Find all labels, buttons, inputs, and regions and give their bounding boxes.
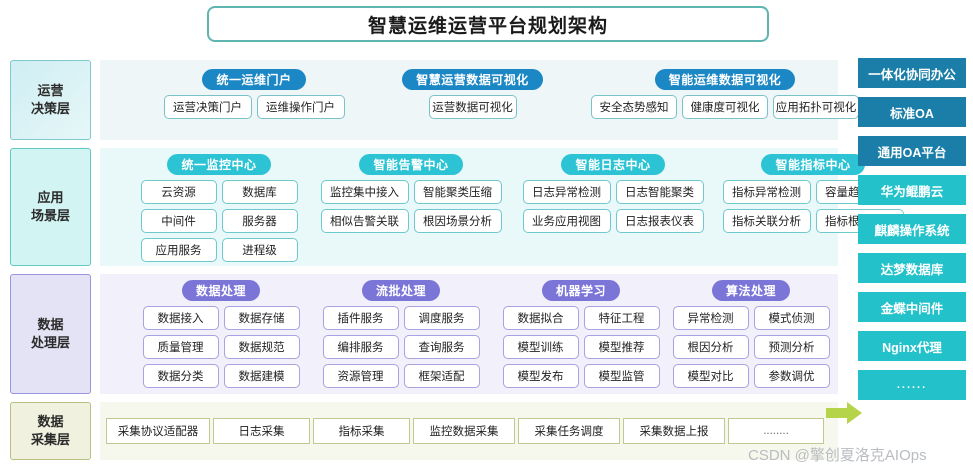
group-pill-wrap: 机器学习 xyxy=(500,280,662,301)
layer-label-application-scenario: 应用 场景层 xyxy=(10,148,91,266)
layer-data-processing: 数据 处理层 数据处理 数据接入 数据存储 质量管理 数据规范 数据分类 数据建… xyxy=(10,274,838,394)
group-title-algorithm-processing: 算法处理 xyxy=(712,280,790,301)
layer-application-scenario: 应用 场景层 统一监控中心 云资源 数据库 中间件 服务器 应用服务 进程级 xyxy=(10,148,838,266)
group-title-smart-ops-data-visual: 智能运维数据可视化 xyxy=(655,69,796,90)
cell-item[interactable]: 根因分析 xyxy=(673,335,749,359)
group-cells: 运营决策门户 运维操作门户 xyxy=(154,95,354,119)
layer-label-data-processing: 数据 处理层 xyxy=(10,274,91,394)
cell-item[interactable]: 查询服务 xyxy=(404,335,480,359)
group-title-unified-ops-portal: 统一运维门户 xyxy=(202,69,305,90)
cell-item[interactable]: 数据存储 xyxy=(224,306,300,330)
architecture-diagram: 智慧运维运营平台规划架构 运营 决策层 统一运维门户 运营决策门户 运维操作门户 xyxy=(0,0,973,471)
layer-label-line1: 数据 xyxy=(31,316,70,334)
collect-item[interactable]: 采集任务调度 xyxy=(518,418,620,444)
cell-item[interactable]: 智能聚类压缩 xyxy=(414,180,502,204)
collect-item[interactable]: 采集协议适配器 xyxy=(106,418,210,444)
cell-item[interactable]: 数据建模 xyxy=(224,364,300,388)
cell-item[interactable]: 模型对比 xyxy=(673,364,749,388)
cell-item[interactable]: 应用服务 xyxy=(141,238,217,262)
cell-item[interactable]: 编排服务 xyxy=(323,335,399,359)
group-smart-alarm-center: 智能告警中心 监控集中接入 智能聚类压缩 相似告警关联 根因场景分析 xyxy=(318,154,504,233)
group-pill-wrap: 数据处理 xyxy=(140,280,302,301)
cell-item[interactable]: 质量管理 xyxy=(143,335,219,359)
layer-data-collection: 数据 采集层 采集协议适配器 日志采集 指标采集 监控数据采集 采集任务调度 采… xyxy=(10,402,838,460)
cell-item[interactable]: 预测分析 xyxy=(754,335,830,359)
cell-item[interactable]: 资源管理 xyxy=(323,364,399,388)
right-arrow-icon xyxy=(826,402,862,424)
collect-item[interactable]: 指标采集 xyxy=(313,418,410,444)
group-pill-wrap: 智慧运营数据可视化 xyxy=(380,69,565,90)
cell-item[interactable]: 进程级 xyxy=(222,238,298,262)
cell-item[interactable]: 异常检测 xyxy=(673,306,749,330)
group-cells: 运营数据可视化 xyxy=(380,95,565,119)
group-cells: 数据接入 数据存储 质量管理 数据规范 数据分类 数据建模 xyxy=(140,306,302,388)
cell-item[interactable]: 运营决策门户 xyxy=(164,95,252,119)
group-title-unified-monitor-center: 统一监控中心 xyxy=(167,154,270,175)
group-pill-wrap: 智能日志中心 xyxy=(520,154,706,175)
layer-label-data-collection: 数据 采集层 xyxy=(10,402,91,460)
sidebar-item-dameng-database[interactable]: 达梦数据库 xyxy=(858,253,966,283)
sidebar-item-standard-oa[interactable]: 标准OA xyxy=(858,97,966,127)
group-unified-monitor-center: 统一监控中心 云资源 数据库 中间件 服务器 应用服务 进程级 xyxy=(138,154,300,262)
cell-item[interactable]: 监控集中接入 xyxy=(321,180,409,204)
sidebar-item-huawei-kunpeng-cloud[interactable]: 华为鲲鹏云 xyxy=(858,175,966,205)
cell-item[interactable]: 数据规范 xyxy=(224,335,300,359)
cell-item[interactable]: 指标关联分析 xyxy=(723,209,811,233)
cell-item[interactable]: 调度服务 xyxy=(404,306,480,330)
cell-item[interactable]: 模型监管 xyxy=(584,364,660,388)
group-pill-wrap: 智能告警中心 xyxy=(318,154,504,175)
collection-items-row: 采集协议适配器 日志采集 指标采集 监控数据采集 采集任务调度 采集数据上报 .… xyxy=(100,402,838,460)
cell-item[interactable]: 运维操作门户 xyxy=(257,95,345,119)
cell-item[interactable]: 安全态势感知 xyxy=(591,95,677,119)
group-pill-wrap: 统一监控中心 xyxy=(138,154,300,175)
right-sidebar: 一体化协同办公 标准OA 通用OA平台 华为鲲鹏云 麒麟操作系统 达梦数据库 金… xyxy=(858,58,966,409)
group-cells: 云资源 数据库 中间件 服务器 应用服务 进程级 xyxy=(138,180,300,262)
layer-label-line2: 决策层 xyxy=(31,100,70,118)
cell-item[interactable]: 参数调优 xyxy=(754,364,830,388)
watermark: CSDN @擎创夏洛克AIOps xyxy=(748,444,927,465)
collect-item[interactable]: 监控数据采集 xyxy=(413,418,515,444)
group-pill-wrap: 统一运维门户 xyxy=(154,69,354,90)
group-stream-batch-processing: 流批处理 插件服务 调度服务 编排服务 查询服务 资源管理 框架适配 xyxy=(320,280,482,388)
group-cells: 日志异常检测 日志智能聚类 业务应用视图 日志报表仪表 xyxy=(520,180,706,233)
page-title: 智慧运维运营平台规划架构 xyxy=(368,11,608,38)
cell-item[interactable]: 健康度可视化 xyxy=(682,95,768,119)
layer-label-line2: 处理层 xyxy=(31,334,70,352)
layer-body-operation-decision: 统一运维门户 运营决策门户 运维操作门户 智慧运营数据可视化 运营数据可视化 智… xyxy=(100,60,838,140)
group-cells: 安全态势感知 健康度可视化 应用拓扑可视化 xyxy=(580,95,870,119)
cell-item[interactable]: 日志异常检测 xyxy=(523,180,611,204)
sidebar-item-general-oa-platform[interactable]: 通用OA平台 xyxy=(858,136,966,166)
cell-item[interactable]: 运营数据可视化 xyxy=(429,95,517,119)
group-pill-wrap: 算法处理 xyxy=(670,280,832,301)
sidebar-item-nginx-proxy[interactable]: Nginx代理 xyxy=(858,331,966,361)
collect-item-more[interactable]: ........ xyxy=(728,418,824,444)
cell-item[interactable]: 应用拓扑可视化 xyxy=(773,95,859,119)
cell-item[interactable]: 特征工程 xyxy=(584,306,660,330)
cell-item[interactable]: 服务器 xyxy=(222,209,298,233)
group-smart-ops-data-visual: 智能运维数据可视化 安全态势感知 健康度可视化 应用拓扑可视化 xyxy=(580,69,870,119)
layer-label-line1: 运营 xyxy=(31,82,70,100)
sidebar-item-integrated-office[interactable]: 一体化协同办公 xyxy=(858,58,966,88)
group-title-smart-metric-center: 智能指标中心 xyxy=(761,154,864,175)
layer-label-line2: 采集层 xyxy=(31,431,70,449)
group-cells: 异常检测 模式侦测 根因分析 预测分析 模型对比 参数调优 xyxy=(670,306,832,388)
group-title-smart-alarm-center: 智能告警中心 xyxy=(359,154,462,175)
group-cells: 插件服务 调度服务 编排服务 查询服务 资源管理 框架适配 xyxy=(320,306,482,388)
cell-item[interactable]: 日志智能聚类 xyxy=(616,180,704,204)
sidebar-item-kylin-os[interactable]: 麒麟操作系统 xyxy=(858,214,966,244)
cell-item[interactable]: 模式侦测 xyxy=(754,306,830,330)
group-machine-learning: 机器学习 数据拟合 特征工程 模型训练 模型推荐 模型发布 模型监管 xyxy=(500,280,662,388)
cell-item[interactable]: 数据库 xyxy=(222,180,298,204)
cell-item[interactable]: 数据拟合 xyxy=(503,306,579,330)
group-title-data-processing: 数据处理 xyxy=(182,280,260,301)
cell-item[interactable]: 日志报表仪表 xyxy=(616,209,704,233)
layer-label-line1: 数据 xyxy=(31,413,70,431)
sidebar-item-more[interactable]: ...... xyxy=(858,370,966,400)
group-pill-wrap: 流批处理 xyxy=(320,280,482,301)
cell-item[interactable]: 指标异常检测 xyxy=(723,180,811,204)
page-title-box: 智慧运维运营平台规划架构 xyxy=(207,6,769,42)
layer-body-data-processing: 数据处理 数据接入 数据存储 质量管理 数据规范 数据分类 数据建模 流批处理 … xyxy=(100,274,838,394)
group-smart-log-center: 智能日志中心 日志异常检测 日志智能聚类 业务应用视图 日志报表仪表 xyxy=(520,154,706,233)
layer-body-data-collection: 采集协议适配器 日志采集 指标采集 监控数据采集 采集任务调度 采集数据上报 .… xyxy=(100,402,838,460)
group-cells: 监控集中接入 智能聚类压缩 相似告警关联 根因场景分析 xyxy=(318,180,504,233)
group-algorithm-processing: 算法处理 异常检测 模式侦测 根因分析 预测分析 模型对比 参数调优 xyxy=(670,280,832,388)
cell-item[interactable]: 模型训练 xyxy=(503,335,579,359)
layer-body-application-scenario: 统一监控中心 云资源 数据库 中间件 服务器 应用服务 进程级 智能告警中心 监… xyxy=(100,148,838,266)
group-unified-ops-portal: 统一运维门户 运营决策门户 运维操作门户 xyxy=(154,69,354,119)
cell-item[interactable]: 中间件 xyxy=(141,209,217,233)
group-title-smart-log-center: 智能日志中心 xyxy=(561,154,664,175)
cell-item[interactable]: 根因场景分析 xyxy=(414,209,502,233)
layer-label-line2: 场景层 xyxy=(31,207,70,225)
cell-item[interactable]: 云资源 xyxy=(141,180,217,204)
group-smart-operation-data-visual: 智慧运营数据可视化 运营数据可视化 xyxy=(380,69,565,119)
group-title-stream-batch-processing: 流批处理 xyxy=(362,280,440,301)
cell-item[interactable]: 数据接入 xyxy=(143,306,219,330)
group-pill-wrap: 智能运维数据可视化 xyxy=(580,69,870,90)
cell-item[interactable]: 相似告警关联 xyxy=(321,209,409,233)
cell-item[interactable]: 模型推荐 xyxy=(584,335,660,359)
cell-item[interactable]: 模型发布 xyxy=(503,364,579,388)
group-title-smart-operation-data-visual: 智慧运营数据可视化 xyxy=(402,69,543,90)
cell-item[interactable]: 数据分类 xyxy=(143,364,219,388)
layer-label-operation-decision: 运营 决策层 xyxy=(10,60,91,140)
group-data-processing: 数据处理 数据接入 数据存储 质量管理 数据规范 数据分类 数据建模 xyxy=(140,280,302,388)
collect-item[interactable]: 采集数据上报 xyxy=(623,418,725,444)
cell-item[interactable]: 框架适配 xyxy=(404,364,480,388)
layer-operation-decision: 运营 决策层 统一运维门户 运营决策门户 运维操作门户 智慧运营数据可视化 运 xyxy=(10,60,838,140)
cell-item[interactable]: 插件服务 xyxy=(323,306,399,330)
group-title-machine-learning: 机器学习 xyxy=(542,280,620,301)
layer-label-line1: 应用 xyxy=(31,189,70,207)
sidebar-item-kingdee-middleware[interactable]: 金蝶中间件 xyxy=(858,292,966,322)
cell-item[interactable]: 业务应用视图 xyxy=(523,209,611,233)
collect-item[interactable]: 日志采集 xyxy=(213,418,310,444)
group-cells: 数据拟合 特征工程 模型训练 模型推荐 模型发布 模型监管 xyxy=(500,306,662,388)
